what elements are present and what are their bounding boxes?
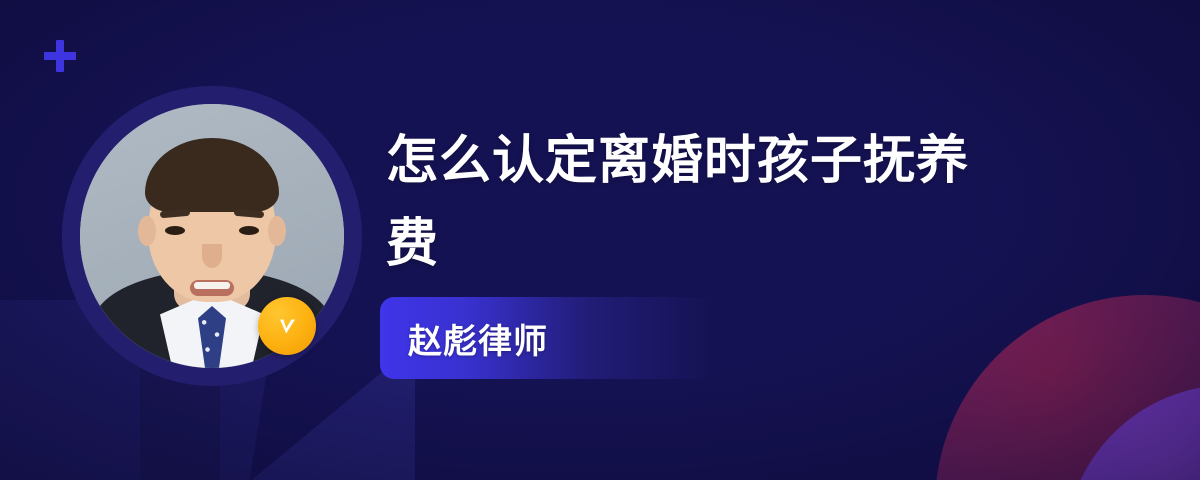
lawyer-name-pill[interactable]: 赵彪律师 (380, 297, 712, 379)
lawyer-qa-banner: 怎么认定离婚时孩子抚养费 赵彪律师 (0, 0, 1200, 480)
plus-icon (42, 38, 78, 74)
page-title: 怎么认定离婚时孩子抚养费 (386, 120, 1006, 286)
headline-block: 怎么认定离婚时孩子抚养费 (386, 120, 1086, 286)
decor-magenta-disc (935, 295, 1200, 480)
lawyer-avatar[interactable] (62, 86, 362, 386)
lawyer-name-label: 赵彪律师 (380, 314, 548, 363)
verified-check-icon (258, 297, 316, 355)
decor-violet-disc (1065, 385, 1200, 480)
